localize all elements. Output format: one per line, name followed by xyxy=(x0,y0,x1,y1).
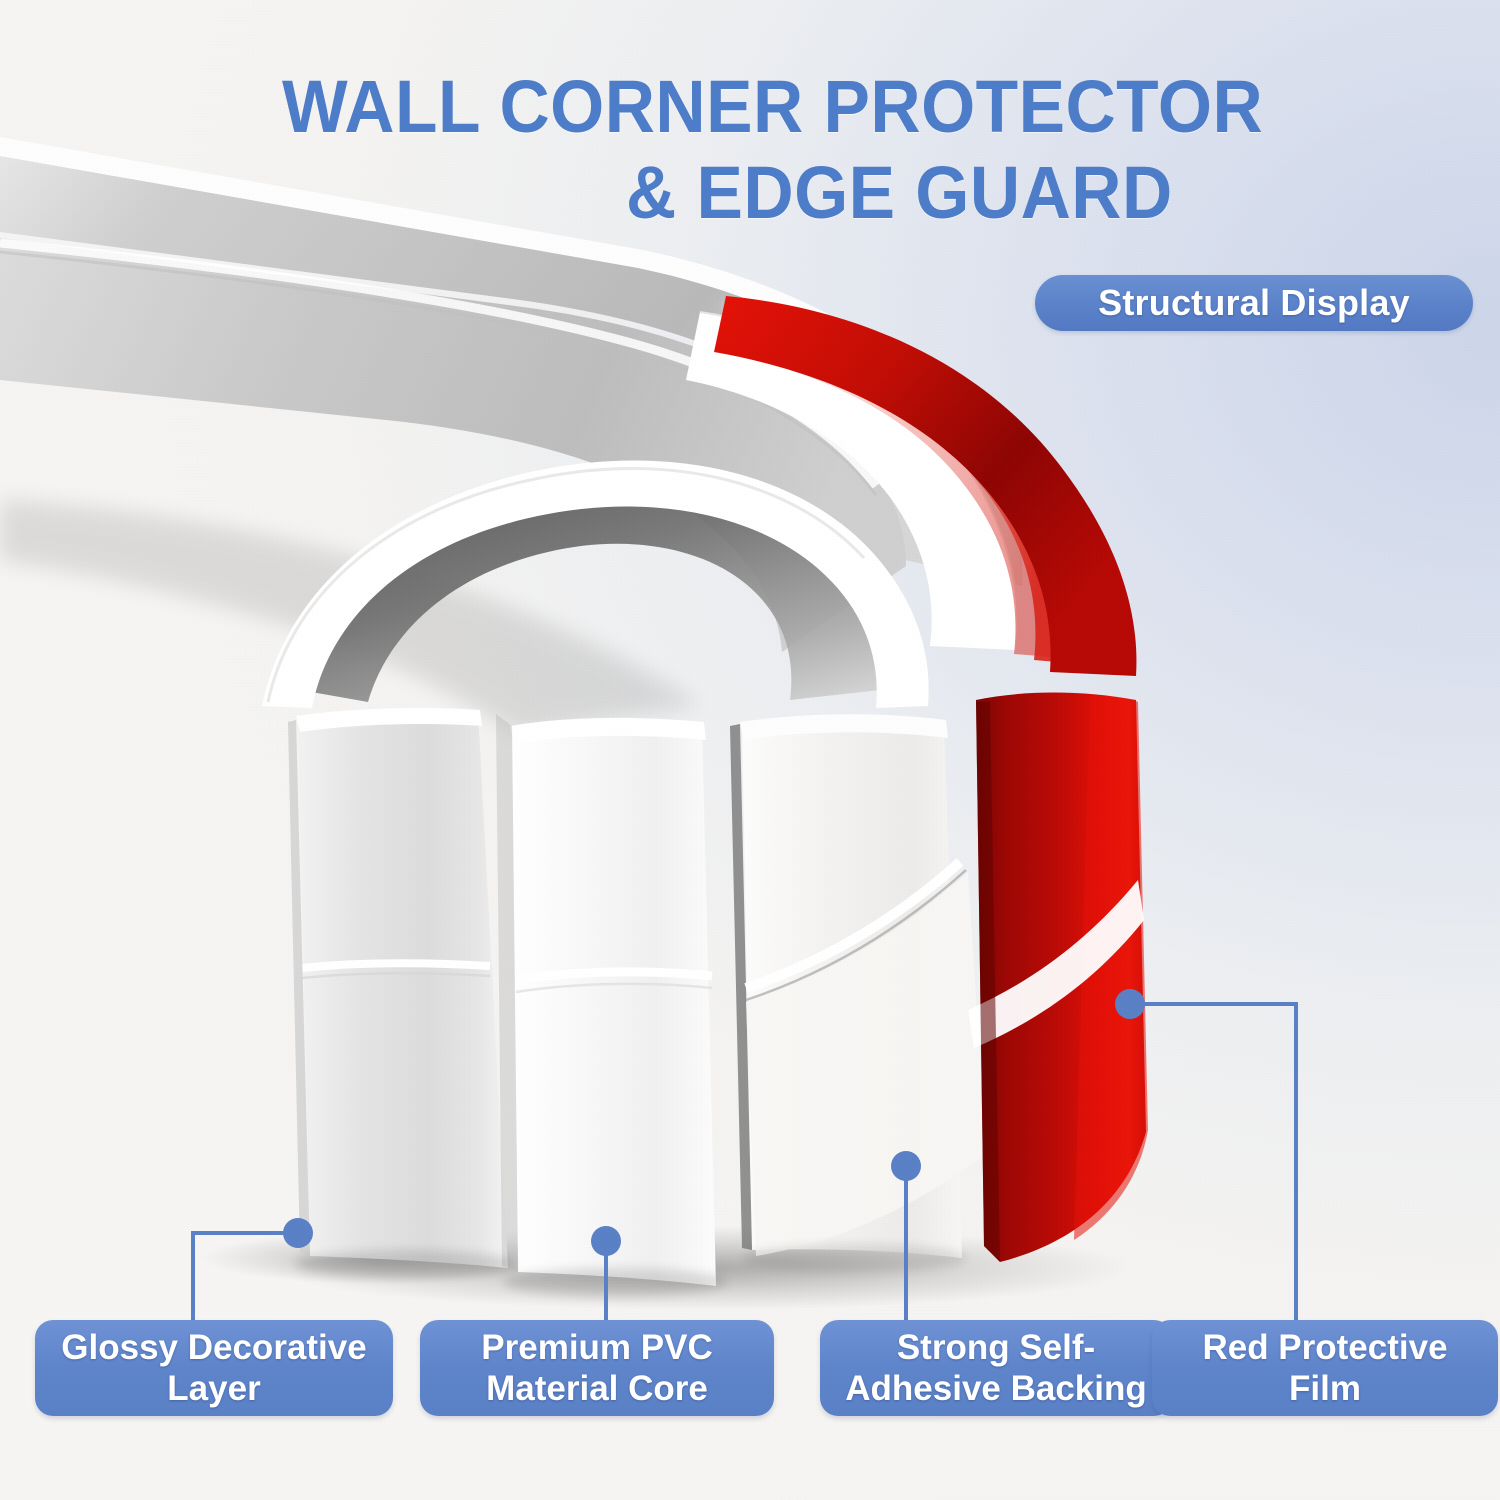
callout-label-text: Premium PVC Material Core xyxy=(430,1327,764,1410)
callout-label-text: Red Protective Film xyxy=(1162,1327,1488,1410)
callout-label-text: Strong Self-Adhesive Backing xyxy=(830,1327,1162,1410)
page-title-line-1: WALL CORNER PROTECTOR xyxy=(282,70,1263,144)
callout-label-text: Glossy Decorative Layer xyxy=(45,1327,383,1410)
status-badge: Structural Display xyxy=(1035,275,1473,331)
callout-label-premium-pvc-material-core: Premium PVC Material Core xyxy=(420,1320,774,1416)
callout-dot-pvc-core xyxy=(591,1226,621,1256)
callout-label-red-protective-film: Red Protective Film xyxy=(1152,1320,1498,1416)
callout-label-strong-self-adhesive-backing: Strong Self-Adhesive Backing xyxy=(820,1320,1172,1416)
callout-dot-glossy-layer xyxy=(283,1218,313,1248)
infographic-canvas: WALL CORNER PROTECTOR & EDGE GUARD Struc… xyxy=(0,0,1500,1500)
status-badge-label: Structural Display xyxy=(1098,282,1410,324)
callout-dot-adhesive-backing xyxy=(891,1151,921,1181)
callout-label-glossy-decorative-layer: Glossy Decorative Layer xyxy=(35,1320,393,1416)
page-title-line-2: & EDGE GUARD xyxy=(626,156,1173,230)
callout-dot-red-film xyxy=(1115,989,1145,1019)
